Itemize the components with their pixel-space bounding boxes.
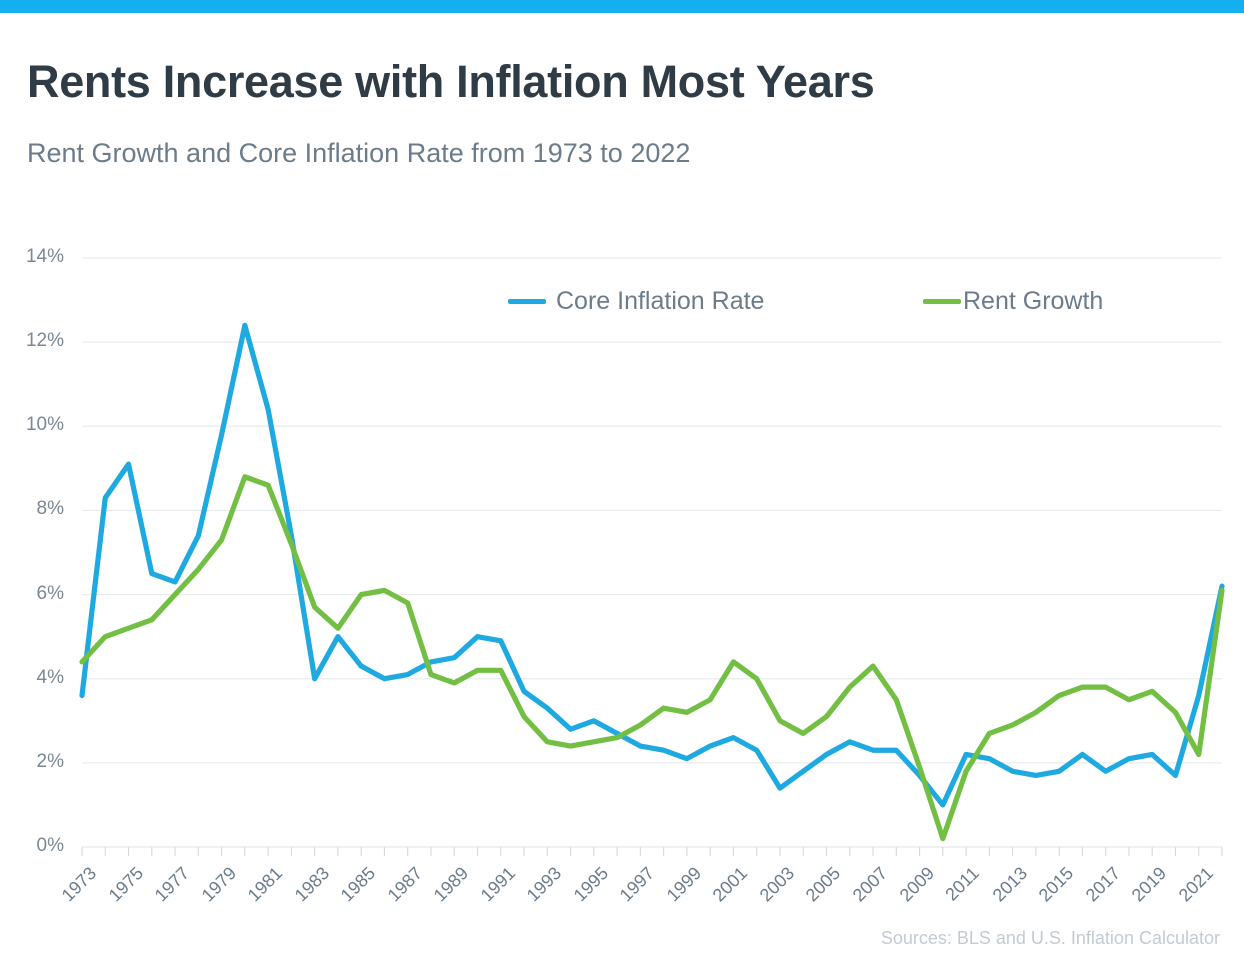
y-axis-tick-label: 10%	[0, 414, 64, 436]
line-chart	[0, 0, 1244, 971]
legend-swatch-green-icon	[923, 299, 961, 304]
y-axis-tick-label: 12%	[0, 330, 64, 352]
y-axis-tick-label: 6%	[0, 583, 64, 605]
series-line-rent-growth	[82, 477, 1222, 839]
source-note: Sources: BLS and U.S. Inflation Calculat…	[881, 928, 1220, 949]
legend-swatch-blue-icon	[508, 299, 546, 304]
chart-legend: Core Inflation Rate Rent Growth	[508, 285, 1148, 317]
legend-entry-core-inflation-rate[interactable]: Core Inflation Rate	[508, 285, 764, 317]
y-axis-tick-label: 0%	[0, 835, 64, 857]
y-axis-tick-label: 2%	[0, 751, 64, 773]
series-lines	[82, 325, 1222, 838]
legend-label: Core Inflation Rate	[556, 287, 764, 316]
legend-entry-rent-growth[interactable]: Rent Growth	[923, 285, 1103, 317]
y-axis-tick-label: 14%	[0, 246, 64, 268]
series-line-core-inflation-rate	[82, 325, 1222, 805]
x-axis-tickmarks	[82, 847, 1222, 856]
chart-page: Rents Increase with Inflation Most Years…	[0, 0, 1244, 971]
y-axis-tick-label: 8%	[0, 498, 64, 520]
chart-svg	[0, 0, 1244, 971]
legend-label: Rent Growth	[963, 287, 1103, 316]
y-axis-tick-label: 4%	[0, 667, 64, 689]
